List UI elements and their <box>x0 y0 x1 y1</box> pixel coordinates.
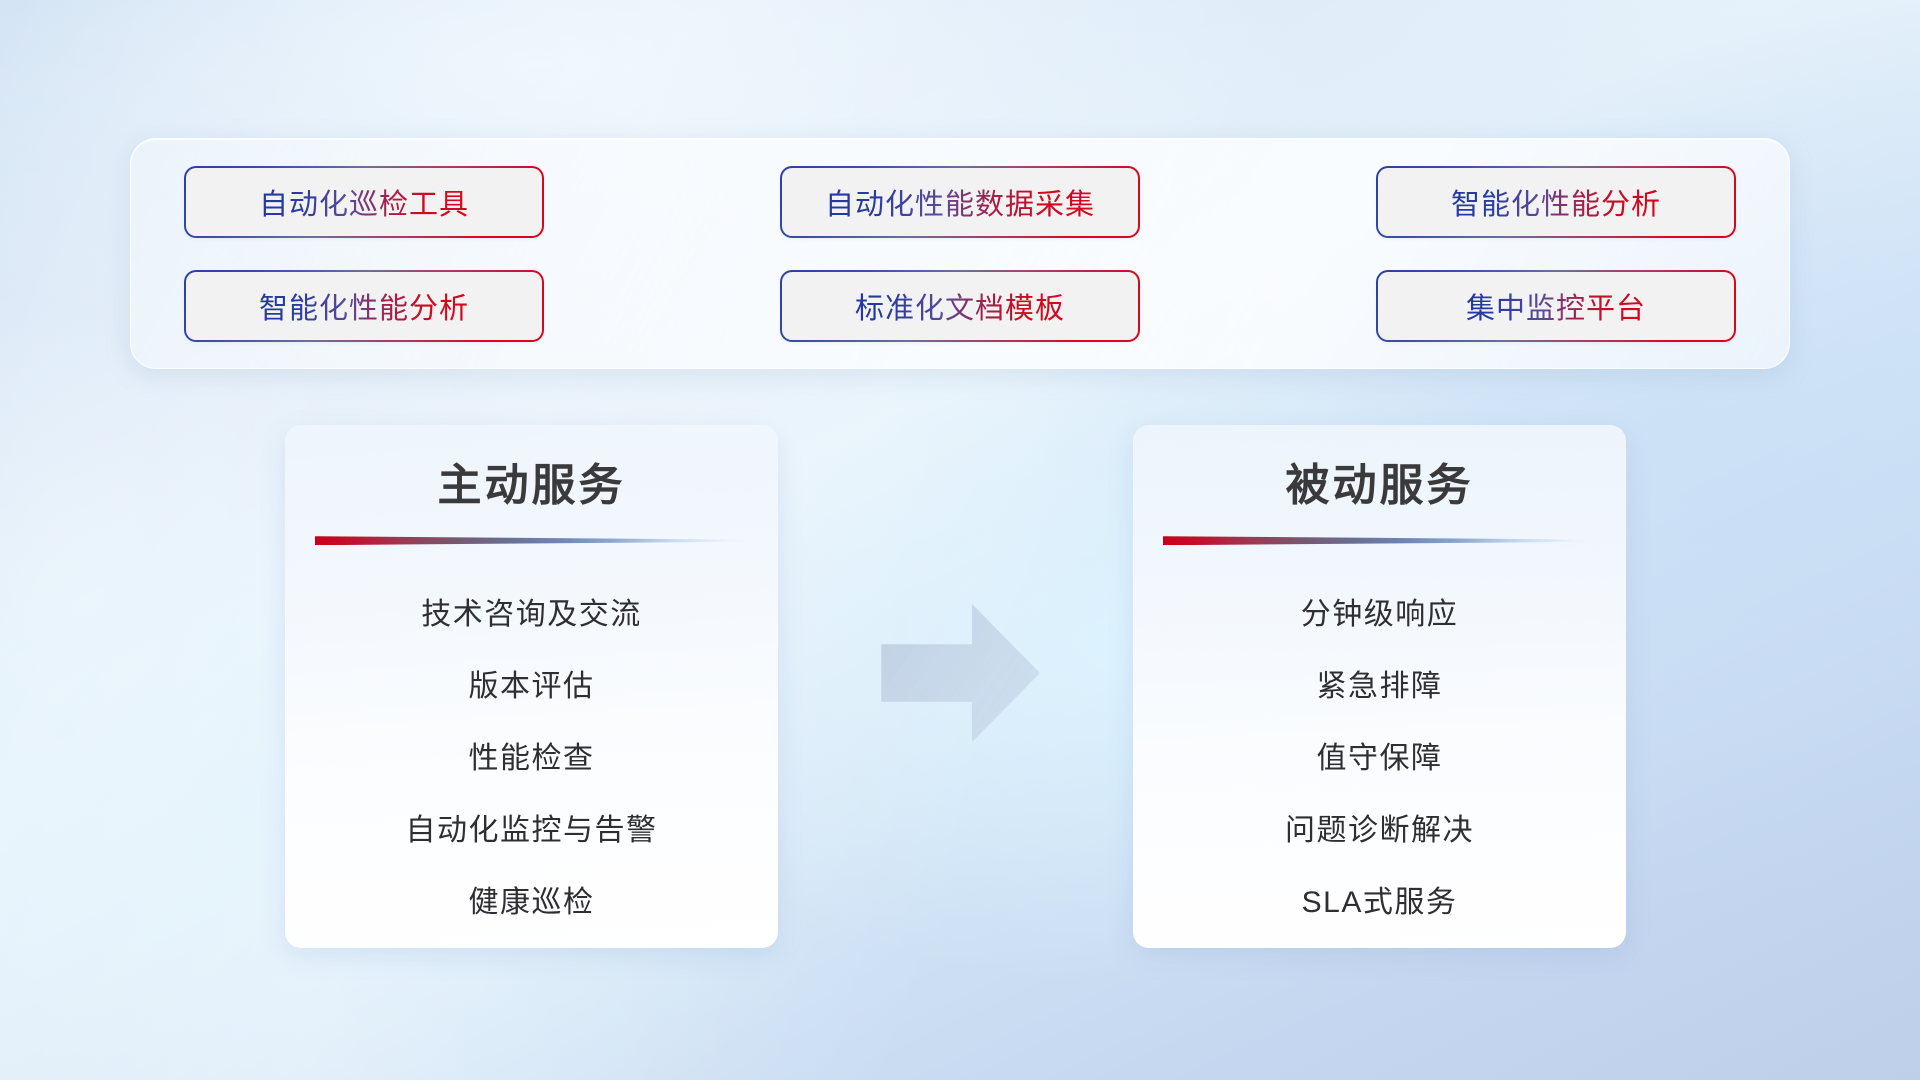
passive-service-card-divider <box>1163 536 1597 545</box>
divider-gradient-bar <box>315 536 749 545</box>
capability-pill-centralized-monitoring-platform[interactable]: 集中监控平台 <box>1378 272 1734 340</box>
capability-pill-automated-inspection-tool[interactable]: 自动化巡检工具 <box>186 168 542 236</box>
capability-row-2: 智能化性能分析 标准化文档模板 集中监控平台 <box>186 272 1734 340</box>
capability-pill-label: 自动化巡检工具 <box>259 181 469 223</box>
capability-pill-intelligent-performance-analysis-2[interactable]: 智能化性能分析 <box>186 272 542 340</box>
passive-service-item-list: 分钟级响应 紧急排障 值守保障 问题诊断解决 SLA式服务 <box>1153 579 1606 939</box>
active-service-card-title: 主动服务 <box>305 457 758 514</box>
capability-pill-standardized-document-template[interactable]: 标准化文档模板 <box>782 272 1138 340</box>
capability-pill-label: 智能化性能分析 <box>1451 181 1661 223</box>
passive-service-card-title: 被动服务 <box>1153 457 1606 514</box>
list-item: 技术咨询及交流 <box>421 579 642 651</box>
capability-pill-label: 自动化性能数据采集 <box>825 181 1095 223</box>
list-item: 分钟级响应 <box>1301 579 1459 651</box>
capability-pill-label: 智能化性能分析 <box>259 285 469 327</box>
list-item: 问题诊断解决 <box>1285 795 1474 867</box>
capability-pill-intelligent-performance-analysis[interactable]: 智能化性能分析 <box>1378 168 1734 236</box>
list-item: 值守保障 <box>1317 723 1443 795</box>
capability-row-1: 自动化巡检工具 自动化性能数据采集 智能化性能分析 <box>186 168 1734 236</box>
active-service-card: 主动服务 技术咨询及交流 版本评估 性能检查 自动化监控与告警 健康巡检 <box>285 425 778 948</box>
divider-gradient-bar <box>1163 536 1597 545</box>
capability-pill-automated-performance-data-collection[interactable]: 自动化性能数据采集 <box>782 168 1138 236</box>
active-service-card-divider <box>315 536 749 545</box>
list-item: 健康巡检 <box>469 867 595 939</box>
list-item: 自动化监控与告警 <box>406 795 658 867</box>
capability-pill-label: 集中监控平台 <box>1466 285 1646 327</box>
list-item: 性能检查 <box>469 723 595 795</box>
capability-panel: 自动化巡检工具 自动化性能数据采集 智能化性能分析 智能化性能分析 标准化文档模… <box>130 138 1790 369</box>
list-item: SLA式服务 <box>1302 867 1458 939</box>
list-item: 版本评估 <box>469 651 595 723</box>
capability-pill-label: 标准化文档模板 <box>855 285 1065 327</box>
active-service-item-list: 技术咨询及交流 版本评估 性能检查 自动化监控与告警 健康巡检 <box>305 579 758 939</box>
passive-service-card: 被动服务 分钟级响应 紧急排障 值守保障 问题诊断解决 SLA式服务 <box>1133 425 1626 948</box>
list-item: 紧急排障 <box>1317 651 1443 723</box>
